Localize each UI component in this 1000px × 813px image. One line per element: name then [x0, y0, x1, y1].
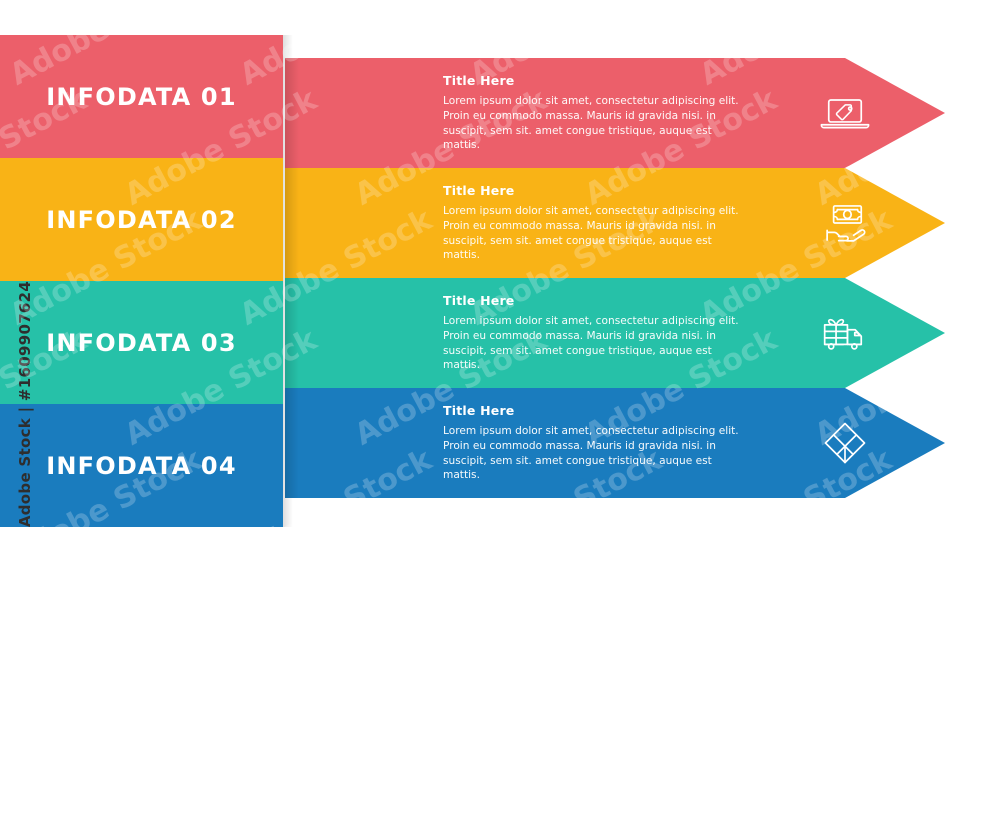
band-body-text: Lorem ipsum dolor sit amet, consectetur … — [443, 204, 743, 262]
infodata-label-text: INFODATA 04 — [46, 452, 236, 480]
arrow-band-content: Title Here Lorem ipsum dolor sit amet, c… — [285, 278, 945, 388]
infodata-label-text: INFODATA 03 — [46, 329, 236, 357]
arrow-band-text-column: Title Here Lorem ipsum dolor sit amet, c… — [443, 73, 743, 152]
arrow-band-text-column: Title Here Lorem ipsum dolor sit amet, c… — [443, 403, 743, 482]
watermark-tile: Adobe Stock — [809, 562, 1000, 692]
arrow-band-3[interactable]: Title Here Lorem ipsum dolor sit amet, c… — [285, 278, 945, 388]
open-box-icon — [813, 411, 877, 475]
infodata-label-block-2[interactable]: INFODATA 02 — [0, 158, 283, 281]
infographic-canvas: INFODATA 01 INFODATA 02 INFODATA 03 INFO… — [0, 0, 1000, 563]
band-title: Title Here — [443, 403, 743, 418]
arrow-band-content: Title Here Lorem ipsum dolor sit amet, c… — [285, 388, 945, 498]
watermark-tile: Adobe Stock — [119, 562, 323, 692]
band-body-text: Lorem ipsum dolor sit amet, consectetur … — [443, 424, 743, 482]
arrow-band-text-column: Title Here Lorem ipsum dolor sit amet, c… — [443, 183, 743, 262]
infodata-label-block-1[interactable]: INFODATA 01 — [0, 35, 283, 158]
watermark-tile: Adobe Stock — [349, 562, 553, 692]
infodata-label-text: INFODATA 01 — [46, 83, 236, 111]
band-title: Title Here — [443, 183, 743, 198]
band-title: Title Here — [443, 73, 743, 88]
arrow-band-2[interactable]: Title Here Lorem ipsum dolor sit amet, c… — [285, 168, 945, 278]
arrow-band-content: Title Here Lorem ipsum dolor sit amet, c… — [285, 168, 945, 278]
laptop-price-tag-icon — [813, 81, 877, 145]
infodata-label-text: INFODATA 02 — [46, 206, 236, 234]
delivery-truck-gift-icon — [813, 301, 877, 365]
watermark-tile: Adobe Stock — [0, 562, 93, 692]
watermark-tile: Adobe Stock — [4, 682, 208, 812]
arrow-band-text-column: Title Here Lorem ipsum dolor sit amet, c… — [443, 293, 743, 372]
band-title: Title Here — [443, 293, 743, 308]
arrow-band-content: Title Here Lorem ipsum dolor sit amet, c… — [285, 58, 945, 168]
arrow-band-4[interactable]: Title Here Lorem ipsum dolor sit amet, c… — [285, 388, 945, 498]
watermark-tile: Adobe Stock — [694, 682, 898, 812]
infodata-label-block-3[interactable]: INFODATA 03 — [0, 281, 283, 404]
watermark-tile: Adobe Stock — [579, 562, 783, 692]
watermark-tile: Adobe Stock — [234, 682, 438, 812]
watermark-tile: Adobe Stock — [464, 682, 668, 812]
watermark-tile: Adobe Stock — [924, 442, 1000, 572]
band-body-text: Lorem ipsum dolor sit amet, consectetur … — [443, 94, 743, 152]
band-body-text: Lorem ipsum dolor sit amet, consectetur … — [443, 314, 743, 372]
arrow-band-1[interactable]: Title Here Lorem ipsum dolor sit amet, c… — [285, 58, 945, 168]
hand-holding-cash-icon — [813, 191, 877, 255]
watermark-tile: Adobe Stock — [924, 682, 1000, 812]
infodata-label-block-4[interactable]: INFODATA 04 — [0, 404, 283, 527]
watermark-tile: Adobe Stock — [924, 0, 1000, 93]
